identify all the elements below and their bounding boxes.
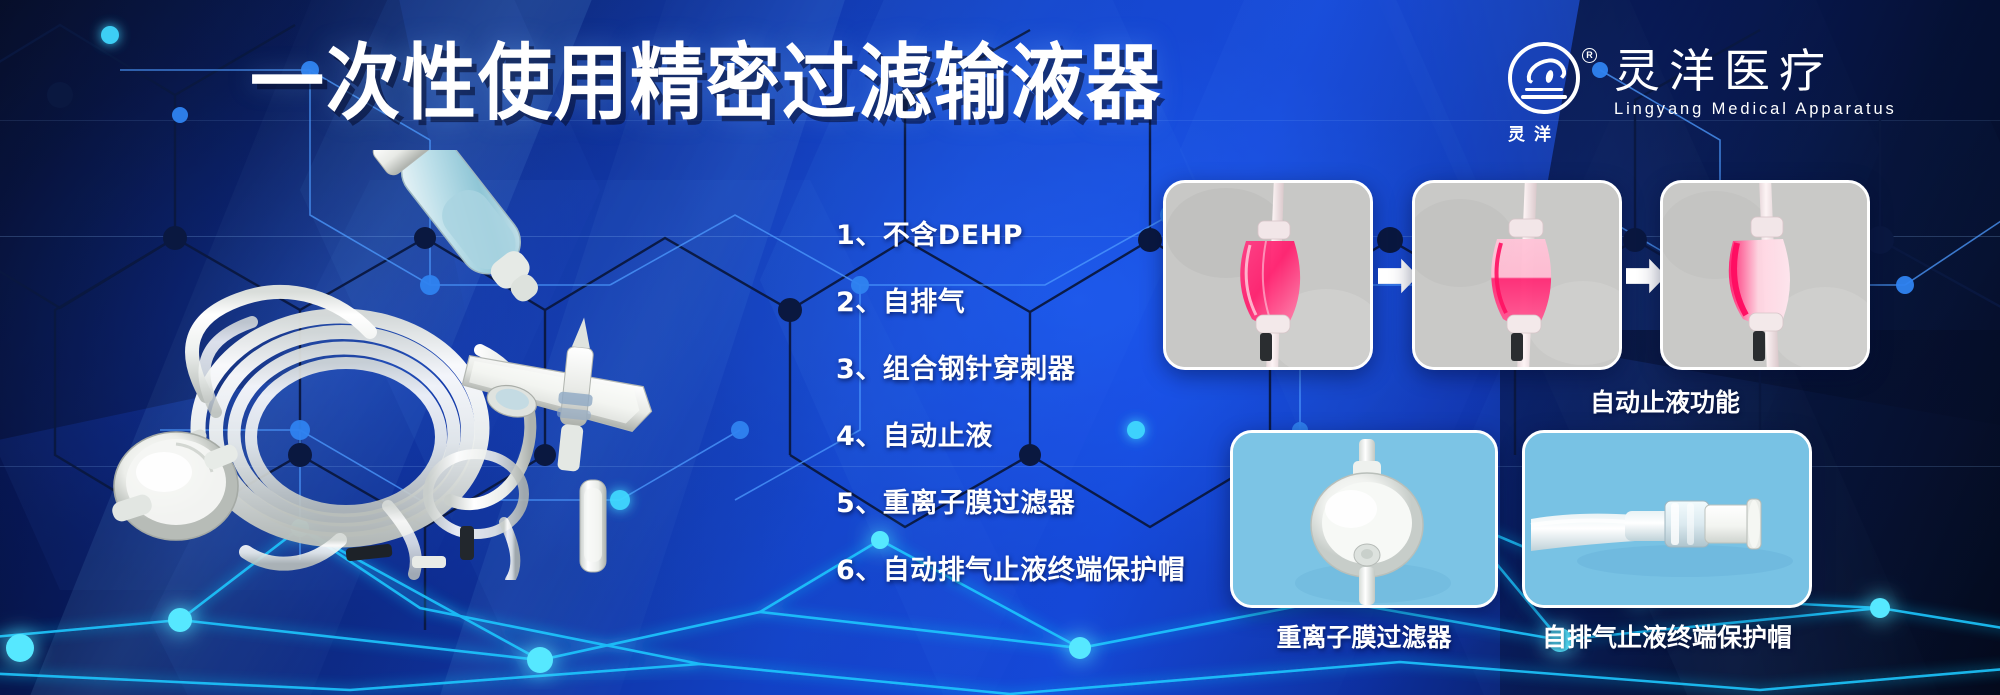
auto-stop-photo-step-1 xyxy=(1163,180,1373,370)
feature-item: 6、自动排气止液终端保护帽 xyxy=(836,557,1256,584)
caption-auto-stop: 自动止液功能 xyxy=(1455,383,1875,419)
caption-heavy-ion-filter: 重离子膜过滤器 xyxy=(1230,618,1498,654)
photo-heavy-ion-membrane-filter xyxy=(1230,430,1498,608)
main-title-text: 一次性使用精密过滤输液器 xyxy=(250,42,1162,125)
brand-name-cn: 灵洋医疗 xyxy=(1614,46,1897,98)
product-banner: 一次性使用精密过滤输液器 R 灵洋 灵洋医疗 Lingyang Medical … xyxy=(0,0,2000,695)
photo-self-venting-terminal-cap xyxy=(1522,430,1812,608)
feature-item: 5、重离子膜过滤器 xyxy=(836,490,1256,517)
logo-emblem-icon: R 灵洋 xyxy=(1508,42,1592,145)
brand-logo: R 灵洋 灵洋医疗 Lingyang Medical Apparatus xyxy=(1508,42,1897,145)
registered-trademark-icon: R xyxy=(1582,48,1597,63)
caption-terminal-cap: 自排气止液终端保护帽 xyxy=(1500,618,1834,654)
product-photo-infusion-set xyxy=(40,150,780,580)
brand-name-en: Lingyang Medical Apparatus xyxy=(1614,100,1897,119)
auto-stop-photo-step-3 xyxy=(1660,180,1870,370)
logo-emblem-subtext: 灵洋 xyxy=(1508,120,1592,145)
page-title: 一次性使用精密过滤输液器 xyxy=(250,42,1162,116)
auto-stop-photo-step-2 xyxy=(1412,180,1622,370)
feature-item: 4、自动止液 xyxy=(836,423,1256,450)
